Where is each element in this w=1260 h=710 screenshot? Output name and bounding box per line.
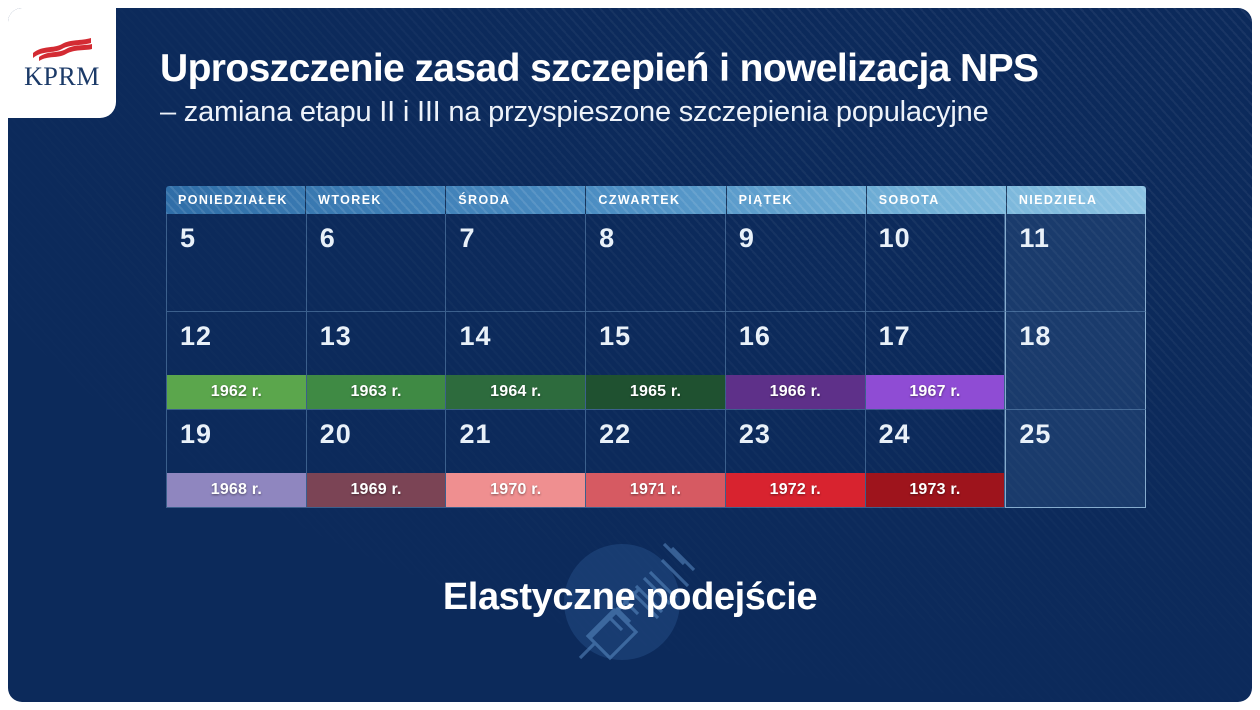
calendar-day-number: 16 <box>726 312 865 350</box>
birth-year-bar[interactable]: 1970 r. <box>446 473 585 507</box>
calendar-day-number: 14 <box>446 312 585 350</box>
calendar-day-number: 23 <box>726 410 865 448</box>
birth-year-bar[interactable]: 1972 r. <box>726 473 865 507</box>
birth-year-bar-empty <box>167 277 306 311</box>
slide-panel: KPRM Uproszczenie zasad szczepień i nowe… <box>8 8 1252 702</box>
calendar-header-row: PONIEDZIAŁEK WTOREK ŚRODA CZWARTEK PIĄTE… <box>166 186 1146 214</box>
calendar-day-number: 24 <box>866 410 1005 448</box>
calendar-day-number: 7 <box>446 214 585 252</box>
calendar-day-cell[interactable]: 121962 r. <box>166 312 307 410</box>
birth-year-bar[interactable]: 1965 r. <box>586 375 725 409</box>
birth-year-bar-empty <box>1006 375 1145 409</box>
calendar-day-number: 8 <box>586 214 725 252</box>
calendar-day-cell[interactable]: 5 <box>166 214 307 312</box>
birth-year-bar[interactable]: 1964 r. <box>446 375 585 409</box>
footer-headline: Elastyczne podejście <box>8 576 1252 619</box>
calendar-day-cell[interactable]: 8 <box>586 214 726 312</box>
calendar-day-number: 12 <box>167 312 306 350</box>
calendar-day-cell[interactable]: 18 <box>1005 312 1146 410</box>
birth-year-bar-empty <box>726 277 865 311</box>
day-header-saturday: SOBOTA <box>867 186 1007 214</box>
calendar-day-cell[interactable]: 10 <box>866 214 1006 312</box>
birth-year-bar[interactable]: 1967 r. <box>866 375 1005 409</box>
day-header-tuesday: WTOREK <box>306 186 446 214</box>
birth-year-bar-empty <box>866 277 1005 311</box>
calendar-day-number: 25 <box>1006 410 1145 448</box>
calendar-week-row: 121962 r.131963 r.141964 r.151965 r.1619… <box>166 312 1146 410</box>
calendar-day-cell[interactable]: 201969 r. <box>307 410 447 508</box>
calendar-day-number: 11 <box>1006 214 1145 252</box>
birth-year-bar[interactable]: 1963 r. <box>307 375 446 409</box>
calendar-day-number: 15 <box>586 312 725 350</box>
calendar-day-number: 18 <box>1006 312 1145 350</box>
day-header-monday: PONIEDZIAŁEK <box>166 186 306 214</box>
calendar-week-row: 191968 r.201969 r.211970 r.221971 r.2319… <box>166 410 1146 508</box>
kprm-logo: KPRM <box>8 8 116 118</box>
calendar-grid: PONIEDZIAŁEK WTOREK ŚRODA CZWARTEK PIĄTE… <box>166 186 1146 508</box>
calendar-day-cell[interactable]: 231972 r. <box>726 410 866 508</box>
calendar-day-number: 5 <box>167 214 306 252</box>
header-block: Uproszczenie zasad szczepień i nowelizac… <box>160 48 1222 130</box>
birth-year-bar-empty <box>307 277 446 311</box>
day-header-thursday: CZWARTEK <box>586 186 726 214</box>
calendar-day-number: 20 <box>307 410 446 448</box>
calendar-day-number: 10 <box>866 214 1005 252</box>
slide-canvas: KPRM Uproszczenie zasad szczepień i nowe… <box>0 0 1260 710</box>
calendar-day-cell[interactable]: 6 <box>307 214 447 312</box>
calendar-day-cell[interactable]: 11 <box>1005 214 1146 312</box>
calendar-week-row: 567891011 <box>166 214 1146 312</box>
calendar-day-cell[interactable]: 25 <box>1005 410 1146 508</box>
birth-year-bar[interactable]: 1971 r. <box>586 473 725 507</box>
calendar-day-cell[interactable]: 161966 r. <box>726 312 866 410</box>
calendar-day-cell[interactable]: 241973 r. <box>866 410 1006 508</box>
birth-year-bar-empty <box>1006 277 1145 311</box>
birth-year-bar-empty <box>586 277 725 311</box>
day-header-sunday: NIEDZIELA <box>1007 186 1146 214</box>
calendar-day-number: 17 <box>866 312 1005 350</box>
day-header-wednesday: ŚRODA <box>446 186 586 214</box>
calendar-day-number: 9 <box>726 214 865 252</box>
calendar-day-cell[interactable]: 7 <box>446 214 586 312</box>
polish-flag-emblem-icon <box>29 36 95 62</box>
calendar-day-cell[interactable]: 221971 r. <box>586 410 726 508</box>
calendar-day-cell[interactable]: 211970 r. <box>446 410 586 508</box>
birth-year-bar[interactable]: 1969 r. <box>307 473 446 507</box>
calendar-day-cell[interactable]: 151965 r. <box>586 312 726 410</box>
kprm-logo-text: KPRM <box>24 64 100 90</box>
birth-year-bar[interactable]: 1968 r. <box>167 473 306 507</box>
calendar-day-cell[interactable]: 191968 r. <box>166 410 307 508</box>
calendar-day-cell[interactable]: 141964 r. <box>446 312 586 410</box>
birth-year-bar-empty <box>1006 473 1145 507</box>
calendar-day-cell[interactable]: 9 <box>726 214 866 312</box>
calendar-day-number: 19 <box>167 410 306 448</box>
calendar-day-number: 22 <box>586 410 725 448</box>
calendar-day-number: 21 <box>446 410 585 448</box>
page-title: Uproszczenie zasad szczepień i nowelizac… <box>160 48 1222 89</box>
birth-year-bar[interactable]: 1962 r. <box>167 375 306 409</box>
birth-year-bar[interactable]: 1966 r. <box>726 375 865 409</box>
day-header-friday: PIĄTEK <box>727 186 867 214</box>
page-subtitle: – zamiana etapu II i III na przyspieszon… <box>160 95 1222 130</box>
calendar-day-cell[interactable]: 131963 r. <box>307 312 447 410</box>
birth-year-bar[interactable]: 1973 r. <box>866 473 1005 507</box>
birth-year-bar-empty <box>446 277 585 311</box>
calendar-day-number: 6 <box>307 214 446 252</box>
calendar-day-number: 13 <box>307 312 446 350</box>
calendar-day-cell[interactable]: 171967 r. <box>866 312 1006 410</box>
